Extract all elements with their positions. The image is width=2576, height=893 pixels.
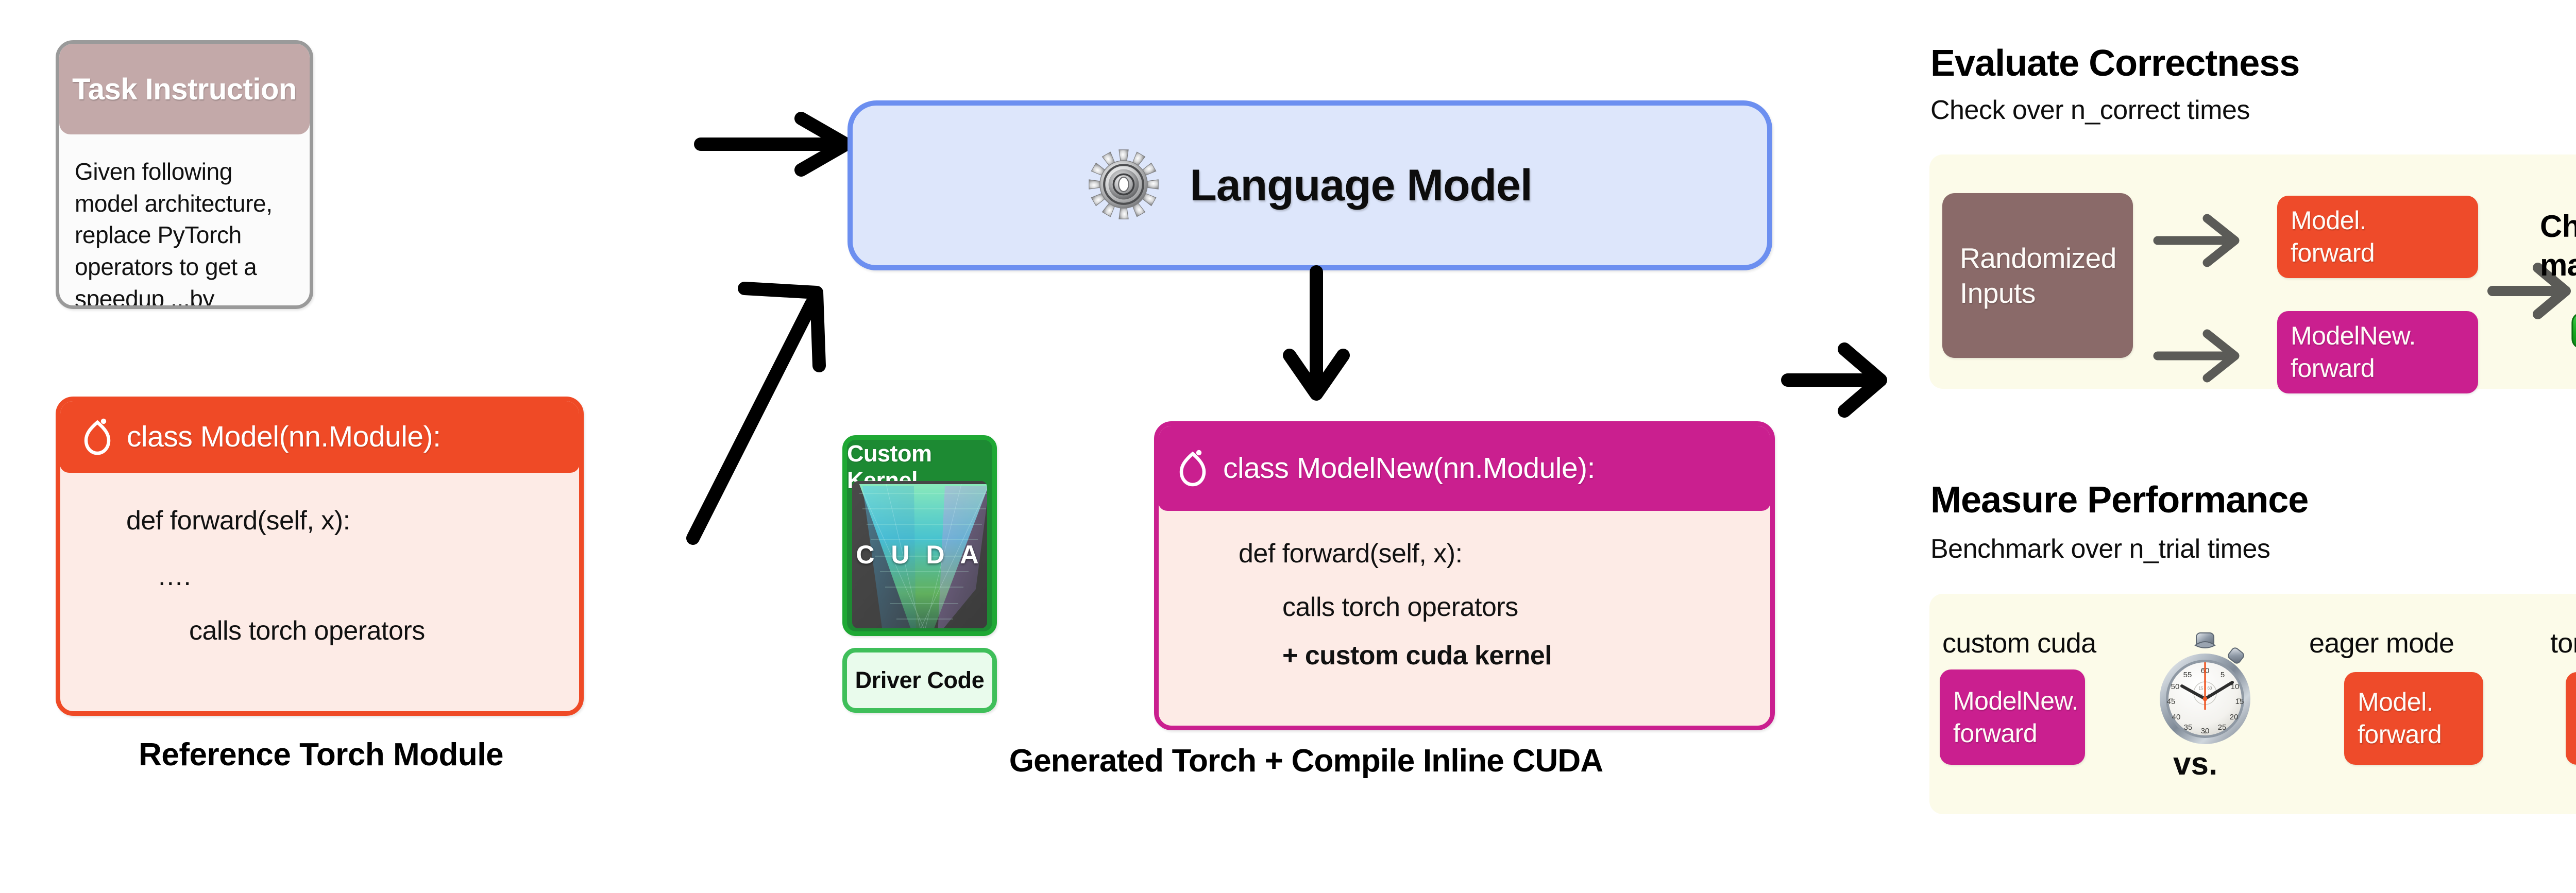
- reference-model-line-1: def forward(self, x):: [126, 505, 579, 536]
- modelnew-line-3: + custom cuda kernel: [1282, 640, 1770, 671]
- evaluate-correctness-title: Evaluate Correctness: [1930, 42, 2576, 84]
- modelnew-card-body: def forward(self, x): calls torch operat…: [1159, 511, 1770, 726]
- custom-kernel-card: Custom Kernel: [842, 435, 997, 636]
- chip-modelnew-forward-perf-label: ModelNew.forward: [1953, 685, 2085, 750]
- perf-column-label-eager-mode: eager mode: [2309, 627, 2454, 659]
- reference-model-card-header: class Model(nn.Module):: [60, 401, 580, 473]
- chip-model-forward-eager: Model.forward: [2344, 672, 2483, 765]
- measure-performance-title: Measure Performance: [1930, 479, 2576, 521]
- arrow-inputs-to-model: [2154, 212, 2272, 269]
- svg-text:30: 30: [2201, 727, 2210, 735]
- svg-text:15: 15: [2199, 686, 2204, 691]
- arrow-model-to-language-model: [654, 278, 871, 546]
- perf-column-label-custom-cuda: custom cuda: [1942, 627, 2096, 659]
- chip-model-forward-compile: Model.forward: [2566, 672, 2576, 765]
- caption-generated-torch-compile-inline-cuda: Generated Torch + Compile Inline CUDA: [829, 743, 1783, 779]
- randomized-inputs-label: RandomizedInputs: [1960, 241, 2116, 311]
- diagram-canvas: Task Instruction Given following model a…: [0, 0, 2576, 893]
- measure-performance-subtitle: Benchmark over n_trial times: [1930, 534, 2576, 564]
- svg-text:25: 25: [2218, 723, 2227, 732]
- arrow-generated-to-evaluation: [1783, 335, 1932, 458]
- caption-reference-torch-module: Reference Torch Module: [56, 736, 586, 773]
- language-model-card: Language Model: [848, 100, 1772, 270]
- svg-text:35: 35: [2184, 723, 2193, 732]
- check-if-match-label: Check ifmatch?: [2540, 207, 2576, 284]
- svg-text:40: 40: [2172, 713, 2181, 722]
- evaluate-correctness-subtitle: Check over n_correct times: [1930, 95, 2576, 126]
- modelnew-card-header: class ModelNew(nn.Module):: [1158, 425, 1771, 511]
- reference-model-card-body: def forward(self, x): .... calls torch o…: [60, 473, 579, 711]
- svg-text:55: 55: [2183, 671, 2192, 679]
- randomized-inputs-box: RandomizedInputs: [1942, 193, 2133, 358]
- reference-model-signature: class Model(nn.Module):: [127, 420, 440, 454]
- chip-model-forward-eval: Model.forward: [2277, 196, 2478, 278]
- chip-modelnew-forward-eval: ModelNew.forward: [2277, 311, 2478, 393]
- modelnew-line-2: calls torch operators: [1282, 592, 1770, 623]
- modelnew-card: class ModelNew(nn.Module): def forward(s…: [1154, 421, 1775, 730]
- cuda-label: C U D A: [856, 540, 983, 570]
- check-mark-icon: [2570, 311, 2576, 353]
- task-instruction-body: Given following model architecture, repl…: [59, 134, 310, 305]
- svg-text:45: 45: [2167, 697, 2176, 706]
- language-model-label: Language Model: [1190, 160, 1532, 211]
- arrow-inputs-to-modelnew: [2154, 328, 2272, 384]
- svg-text:20: 20: [2230, 713, 2239, 722]
- pytorch-flame-icon: [1177, 447, 1209, 490]
- svg-text:5: 5: [2221, 671, 2225, 679]
- chip-model-forward-eval-label: Model.forward: [2291, 204, 2478, 269]
- modelnew-signature: class ModelNew(nn.Module):: [1223, 451, 1595, 485]
- reference-model-line-2: ....: [158, 561, 579, 592]
- vs-label: vs.: [2173, 746, 2217, 782]
- reference-model-card: class Model(nn.Module): def forward(self…: [56, 397, 584, 716]
- verdict-row: [2570, 306, 2576, 357]
- gear-icon: [1088, 146, 1160, 226]
- reference-model-line-3: calls torch operators: [189, 615, 579, 646]
- task-instruction-title: Task Instruction: [72, 72, 297, 107]
- stopwatch-icon: 60 5 10 15 20 25 30 35 40 45 50 55 1560 …: [2151, 631, 2259, 749]
- chip-modelnew-forward-perf: ModelNew.forward: [1940, 669, 2085, 765]
- perf-column-label-torch-compile: torch.compile: [2550, 627, 2576, 659]
- svg-text:60: 60: [2208, 686, 2212, 691]
- driver-code-card: Driver Code: [842, 648, 997, 713]
- driver-code-label: Driver Code: [855, 667, 985, 694]
- svg-text:50: 50: [2171, 682, 2180, 691]
- arrow-language-model-to-generated: [1265, 268, 1368, 422]
- chip-model-forward-eager-label: Model.forward: [2358, 686, 2483, 751]
- task-instruction-header: Task Instruction: [59, 44, 310, 134]
- cuda-thumbnail: C U D A: [852, 481, 987, 628]
- arrow-task-to-language-model: [644, 124, 860, 196]
- task-instruction-card: Task Instruction Given following model a…: [56, 40, 313, 309]
- chip-modelnew-forward-eval-label: ModelNew.forward: [2291, 320, 2478, 385]
- task-instruction-text: Given following model architecture, repl…: [75, 156, 294, 309]
- pytorch-flame-icon: [81, 415, 113, 459]
- svg-text:15: 15: [2235, 697, 2244, 706]
- modelnew-line-1: def forward(self, x):: [1239, 538, 1770, 569]
